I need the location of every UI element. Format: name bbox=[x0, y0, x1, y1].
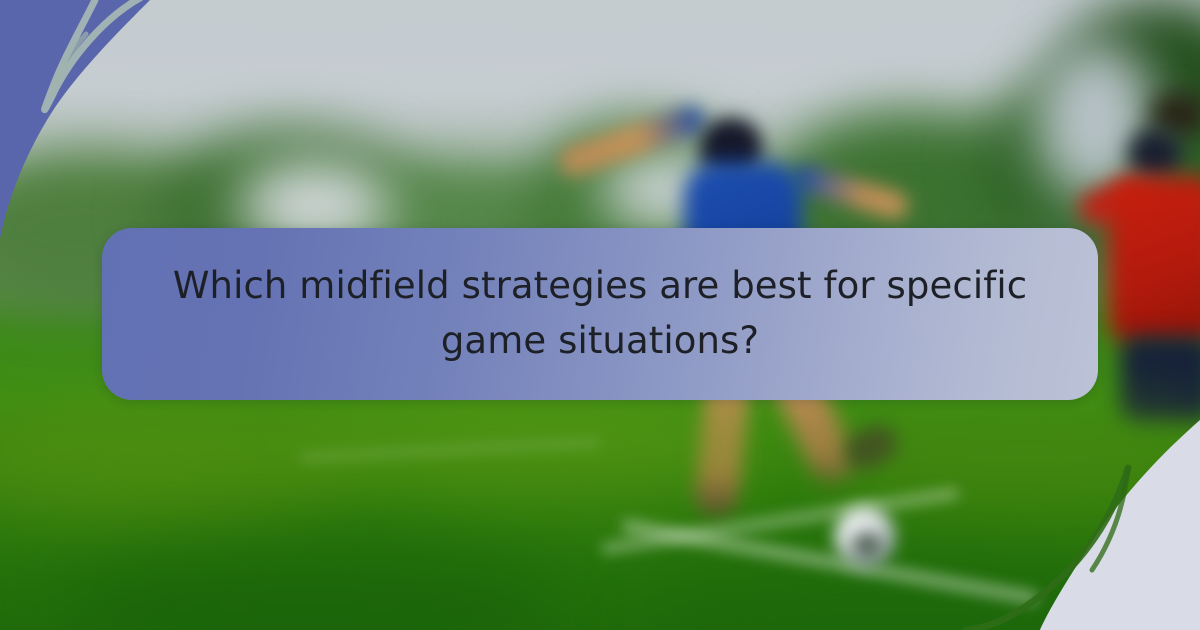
player-red-head bbox=[1128, 128, 1182, 180]
question-text: Which midfield strategies are best for s… bbox=[154, 259, 1046, 369]
social-card-canvas: Which midfield strategies are best for s… bbox=[0, 0, 1200, 630]
player-red-torso bbox=[1108, 176, 1200, 346]
question-card: Which midfield strategies are best for s… bbox=[102, 228, 1098, 400]
soccer-ball-shadow bbox=[852, 532, 882, 558]
